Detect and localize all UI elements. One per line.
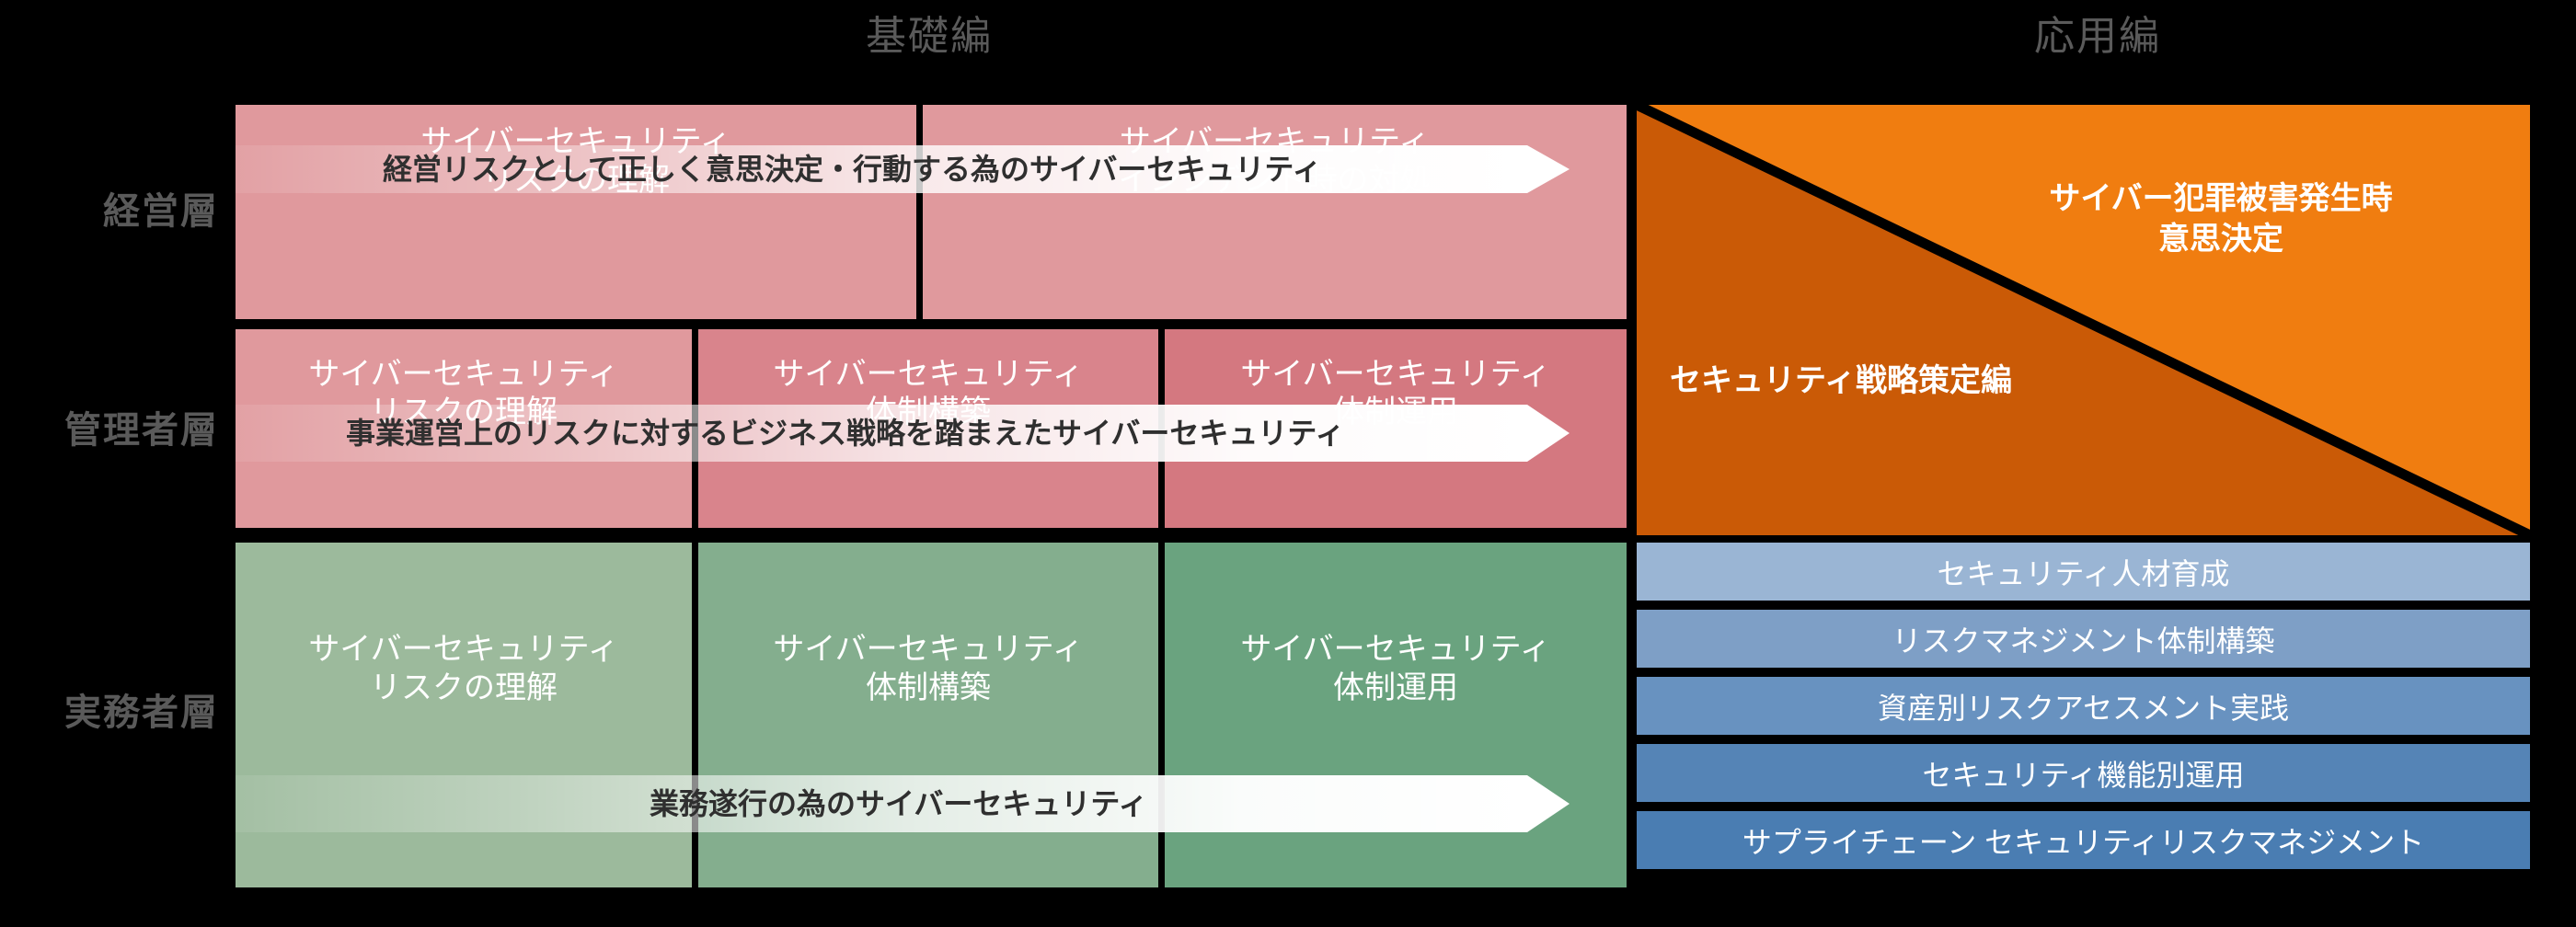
- applied-list-item-4[interactable]: セキュリティ機能別運用: [1637, 744, 2530, 802]
- cell-executive-risk-understanding-extension: [236, 218, 916, 319]
- cell-manager-structure-build-label: サイバーセキュリティ 体制構築: [773, 356, 1083, 432]
- applied-list-item-2[interactable]: リスクマネジメント体制構築: [1637, 610, 2530, 668]
- applied-upper-triangle: [1637, 105, 2530, 535]
- cell-staff-structure-build-label: サイバーセキュリティ 体制構築: [773, 631, 1083, 707]
- cell-staff-structure-build[interactable]: サイバーセキュリティ 体制構築: [698, 543, 1158, 887]
- applied-upper-label: サイバー犯罪被害発生時 意思決定: [1936, 178, 2506, 259]
- tier-label-staff: 実務者層: [7, 694, 219, 731]
- cell-manager-risk-understanding-label: サイバーセキュリティ リスクの理解: [308, 356, 618, 432]
- cell-executive-risk-understanding[interactable]: サイバーセキュリティ リスクの理解: [236, 105, 916, 218]
- column-header-basic: 基礎編: [773, 17, 1086, 57]
- tier-label-executive: 経営層: [7, 193, 219, 230]
- applied-list-item-1[interactable]: セキュリティ人材育成: [1637, 543, 2530, 601]
- cell-manager-structure-build[interactable]: サイバーセキュリティ 体制構築: [698, 329, 1158, 528]
- cell-manager-structure-operate-label: サイバーセキュリティ 体制運用: [1240, 356, 1550, 432]
- applied-strategy-block[interactable]: サイバー犯罪被害発生時 意思決定 セキュリティ戦略策定編: [1637, 105, 2530, 535]
- tier-label-manager: 管理者層: [7, 412, 219, 449]
- cell-staff-risk-understanding-label: サイバーセキュリティ リスクの理解: [308, 631, 618, 707]
- cell-staff-structure-operate-label: サイバーセキュリティ 体制運用: [1240, 631, 1550, 707]
- cell-executive-incident-response-extension: [923, 218, 1627, 319]
- cell-manager-risk-understanding[interactable]: サイバーセキュリティ リスクの理解: [236, 329, 692, 528]
- cell-executive-incident-response[interactable]: サイバーセキュリティ インシデント時の対処: [923, 105, 1627, 218]
- applied-lower-label: セキュリティ戦略策定編: [1670, 360, 2148, 401]
- cell-manager-structure-operate[interactable]: サイバーセキュリティ 体制運用: [1165, 329, 1627, 528]
- cell-staff-structure-operate[interactable]: サイバーセキュリティ 体制運用: [1165, 543, 1627, 887]
- cell-staff-risk-understanding[interactable]: サイバーセキュリティ リスクの理解: [236, 543, 692, 887]
- column-header-applied: 応用編: [1941, 17, 2254, 57]
- diagram-canvas: 基礎編 応用編 経営層 管理者層 実務者層 サイバーセキュリティ リスクの理解 …: [0, 0, 2576, 927]
- applied-list-item-3[interactable]: 資産別リスクアセスメント実践: [1637, 677, 2530, 735]
- applied-list-item-5[interactable]: サプライチェーン セキュリティリスクマネジメント: [1637, 811, 2530, 869]
